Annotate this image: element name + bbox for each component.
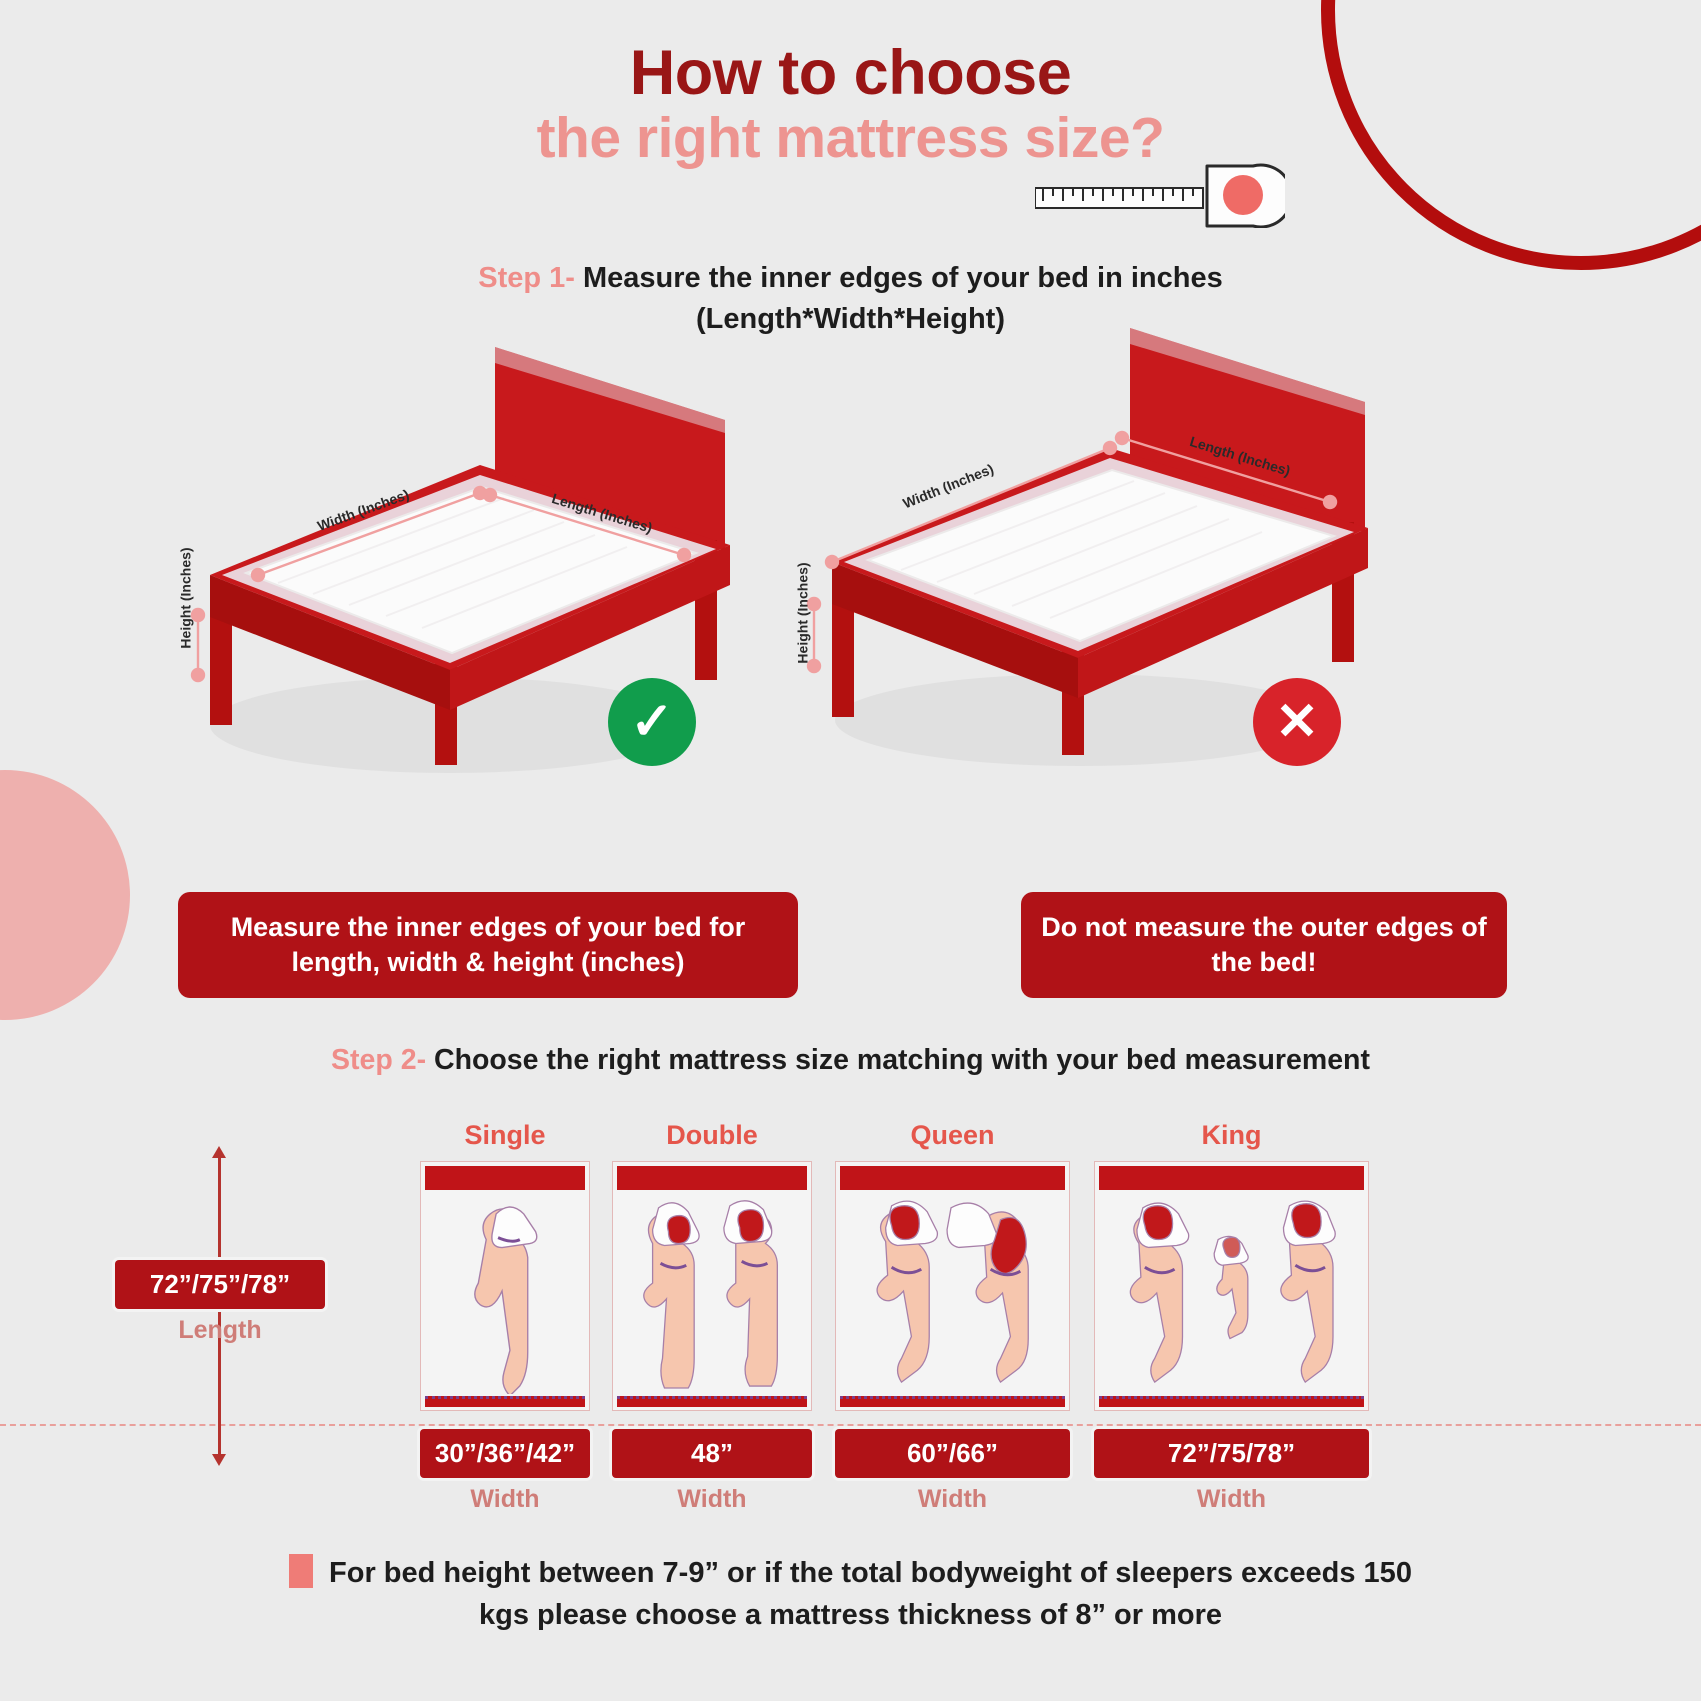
mattress-size-label-king: King xyxy=(1094,1120,1369,1151)
callout-do-not-measure-outer: Do not measure the outer edges of the be… xyxy=(1021,892,1507,998)
mattress-column-king[interactable]: King xyxy=(1094,1120,1369,1514)
step2-label: Step 2- xyxy=(331,1044,426,1076)
page-title: How to choose the right mattress size? xyxy=(0,40,1701,172)
mattress-footer-double: 48” Width xyxy=(612,1429,812,1514)
sleeper-figures-double xyxy=(613,1192,811,1394)
left-bed-height-label: Height (Inches) xyxy=(178,547,194,648)
length-value-tag: 72”/75”/78” xyxy=(115,1260,325,1309)
mattress-illustration-king xyxy=(1094,1161,1369,1411)
cross-icon: ✕ xyxy=(1253,678,1341,766)
mattress-column-queen[interactable]: Queen xyxy=(835,1120,1070,1514)
measuring-tape-icon xyxy=(1035,148,1285,228)
mattress-illustration-single xyxy=(420,1161,590,1411)
width-caption-double: Width xyxy=(612,1485,812,1514)
mattress-footer-king: 72”/75/78” Width xyxy=(1094,1429,1369,1514)
step1-label: Step 1- xyxy=(478,262,575,294)
step2-heading: Step 2- Choose the right mattress size m… xyxy=(0,1040,1701,1080)
mattress-size-label-single: Single xyxy=(420,1120,590,1151)
footnote-swatch-icon xyxy=(289,1554,313,1588)
title-line-1: How to choose xyxy=(0,40,1701,106)
footboard xyxy=(617,1396,807,1407)
length-axis: 72”/75”/78” Length xyxy=(115,1156,325,1456)
step1-text-line1: Measure the inner edges of your bed in i… xyxy=(583,262,1223,294)
mattress-size-comparison: 72”/75”/78” Length Single xyxy=(0,1120,1701,1540)
headboard xyxy=(840,1166,1065,1190)
mattress-column-double[interactable]: Double xyxy=(612,1120,812,1514)
mattress-column-single[interactable]: Single 30”/36”/42” Width xyxy=(420,1120,590,1514)
callout-measure-inner-edges: Measure the inner edges of your bed for … xyxy=(178,892,798,998)
footboard xyxy=(840,1396,1065,1407)
headboard xyxy=(1099,1166,1364,1190)
sleeper-figures-single xyxy=(421,1192,589,1394)
sleeper-figures-king xyxy=(1095,1192,1368,1394)
mattress-illustration-queen xyxy=(835,1161,1070,1411)
mattress-footer-queen: 60”/66” Width xyxy=(835,1429,1070,1514)
footnote: For bed height between 7-9” or if the to… xyxy=(0,1552,1701,1636)
infographic-canvas: How to choose the right mattress size? S… xyxy=(0,0,1701,1701)
check-icon: ✓ xyxy=(608,678,696,766)
mattress-size-label-double: Double xyxy=(612,1120,812,1151)
step2-text: Choose the right mattress size matching … xyxy=(434,1044,1370,1076)
mattress-footer-single: 30”/36”/42” Width xyxy=(420,1429,590,1514)
width-caption-queen: Width xyxy=(835,1485,1070,1514)
sleeper-figures-queen xyxy=(836,1192,1069,1394)
mattress-size-label-queen: Queen xyxy=(835,1120,1070,1151)
width-value-tag-queen: 60”/66” xyxy=(835,1429,1070,1478)
footnote-line-2: kgs please choose a mattress thickness o… xyxy=(479,1599,1222,1631)
right-bed-height-label: Height (Inches) xyxy=(795,562,811,663)
headboard xyxy=(617,1166,807,1190)
footboard xyxy=(425,1396,585,1407)
footboard xyxy=(1099,1396,1364,1407)
width-value-tag-king: 72”/75/78” xyxy=(1094,1429,1369,1478)
decorative-circle-left xyxy=(0,770,130,1020)
width-caption-single: Width xyxy=(420,1485,590,1514)
width-value-tag-double: 48” xyxy=(612,1429,812,1478)
mattress-illustration-double xyxy=(612,1161,812,1411)
width-value-tag-single: 30”/36”/42” xyxy=(420,1429,590,1478)
footnote-line-1: For bed height between 7-9” or if the to… xyxy=(329,1557,1412,1589)
headboard xyxy=(425,1166,585,1190)
length-caption: Length xyxy=(115,1316,325,1345)
width-caption-king: Width xyxy=(1094,1485,1369,1514)
